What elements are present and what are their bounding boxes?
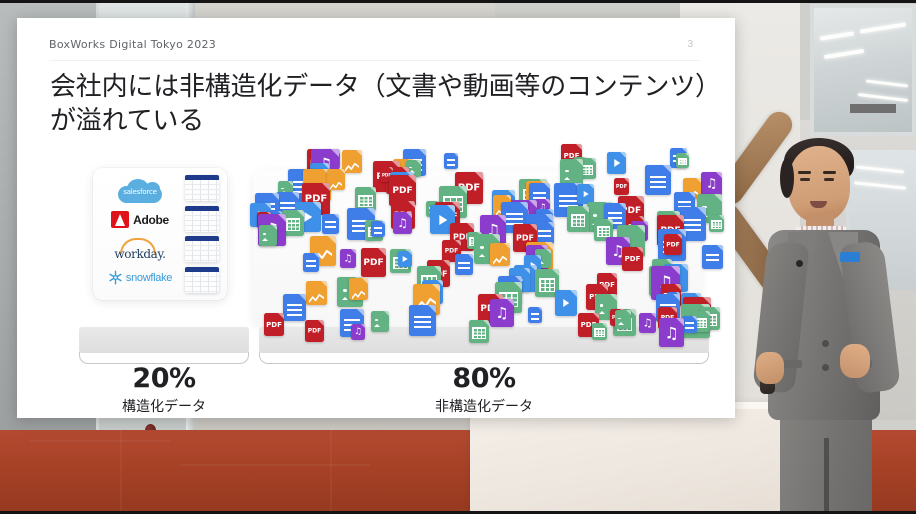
file-corner-fold xyxy=(624,178,629,183)
file-corner-fold xyxy=(432,284,440,292)
file-corner-fold xyxy=(428,305,436,313)
snowflake-icon xyxy=(108,270,123,285)
spreadsheet-grid xyxy=(597,226,610,237)
document-lines xyxy=(374,227,383,234)
file-corner-fold xyxy=(677,234,682,239)
image-file-icon xyxy=(259,225,277,246)
logo-snowflake: snowflake xyxy=(101,265,179,291)
file-corner-fold xyxy=(536,255,541,260)
file-corner-fold xyxy=(548,222,554,228)
document-file-icon xyxy=(702,245,723,269)
file-corner-fold xyxy=(504,243,510,249)
file-corner-fold xyxy=(607,219,613,225)
page-title: 会社内には非構造化データ（文書や動画等のコンテンツ） が溢れている xyxy=(50,70,720,139)
stat-unstructured-value: 80% xyxy=(259,363,709,394)
file-corner-fold xyxy=(530,224,537,231)
play-triangle-icon xyxy=(563,299,569,307)
document-lines xyxy=(650,176,667,189)
pdf-text-label: PDF xyxy=(614,184,629,190)
file-corner-fold xyxy=(673,294,680,301)
music-note-icon: ♫ xyxy=(706,177,718,192)
file-corner-fold xyxy=(714,194,722,202)
file-corner-fold xyxy=(292,192,299,199)
pdf-text-label: PDF xyxy=(664,241,682,248)
file-corner-fold xyxy=(663,165,671,173)
file-corner-fold xyxy=(265,203,271,209)
chart-line-icon xyxy=(345,160,359,169)
file-corner-fold xyxy=(524,268,530,274)
file-corner-fold xyxy=(611,273,617,279)
music-note-icon: ♫ xyxy=(643,317,653,330)
structured-band xyxy=(79,327,249,353)
file-corner-fold xyxy=(475,172,483,180)
pdf-file-icon: PDF xyxy=(614,178,629,195)
file-corner-fold xyxy=(357,309,364,316)
file-corner-fold xyxy=(601,284,608,291)
file-corner-fold xyxy=(582,206,589,213)
file-corner-fold xyxy=(381,221,385,225)
pdf-text-label: PDF xyxy=(622,255,643,263)
file-corner-fold xyxy=(340,169,345,174)
stat-structured-value: 20% xyxy=(79,363,249,394)
file-corner-fold xyxy=(719,215,724,220)
file-corner-fold xyxy=(591,158,596,163)
spreadsheet-grid xyxy=(286,218,301,231)
file-corner-fold xyxy=(544,183,550,189)
spreadsheet-grid xyxy=(678,158,687,166)
file-corner-fold xyxy=(593,313,599,319)
picture-mountain-icon xyxy=(618,318,628,325)
spreadsheet-grid xyxy=(594,328,604,337)
adobe-a-icon xyxy=(111,211,129,228)
document-lines xyxy=(447,159,456,166)
table-icon xyxy=(185,206,219,232)
presenter-figure xyxy=(744,138,916,514)
pdf-file-icon: PDF xyxy=(361,248,386,277)
file-corner-fold xyxy=(610,294,617,301)
chart-line-icon xyxy=(330,178,343,186)
video-file-icon xyxy=(555,290,577,316)
picture-mountain-icon xyxy=(564,170,579,180)
file-corner-fold xyxy=(570,290,577,297)
file-corner-fold xyxy=(362,278,368,284)
chart-line-icon xyxy=(493,253,507,262)
image-file-icon xyxy=(615,310,631,329)
pdf-text-label: PDF xyxy=(389,186,416,196)
salesforce-cloud-icon: salesforce xyxy=(118,179,162,203)
audio-file-icon: ♫ xyxy=(639,313,656,333)
document-file-icon xyxy=(682,316,697,333)
image-file-icon xyxy=(560,159,583,186)
pdf-file-icon: PDF xyxy=(664,234,682,255)
presenter-hair-side xyxy=(780,158,794,198)
chart-file-icon xyxy=(490,243,510,266)
document-file-icon xyxy=(322,214,339,234)
page-title-line-2: が溢れている xyxy=(50,104,720,138)
presenter-brow-right xyxy=(823,171,836,174)
file-corner-fold xyxy=(620,152,626,158)
play-triangle-icon xyxy=(304,212,312,222)
file-corner-fold xyxy=(389,167,393,171)
file-corner-fold xyxy=(384,311,389,316)
chart-file-icon xyxy=(342,150,362,173)
file-corner-fold xyxy=(278,313,284,319)
chart-line-icon xyxy=(352,287,365,296)
video-file-icon xyxy=(398,251,412,267)
presenter-hand-left xyxy=(756,352,784,384)
play-triangle-icon xyxy=(583,191,588,197)
logo-adobe: Adobe xyxy=(101,207,179,233)
presenter-eye-left xyxy=(800,178,810,181)
presenter-hand-right xyxy=(840,344,870,378)
presenter-head xyxy=(788,146,850,222)
file-corner-fold xyxy=(272,193,279,200)
picture-mountain-icon xyxy=(374,319,386,327)
file-corner-fold xyxy=(378,248,386,256)
spreadsheet-grid xyxy=(539,278,555,292)
file-corner-fold xyxy=(455,240,461,246)
slide-header: BoxWorks Digital Tokyo 2023 3 xyxy=(49,38,711,60)
table-icon xyxy=(185,175,219,201)
spreadsheet-grid xyxy=(358,195,372,207)
chart-file-icon xyxy=(306,281,327,305)
file-corner-fold xyxy=(705,311,710,316)
play-triangle-icon xyxy=(439,215,447,225)
music-note-icon: ♫ xyxy=(495,304,508,322)
file-corner-fold xyxy=(318,320,324,326)
file-corner-fold xyxy=(468,254,473,259)
file-corner-fold xyxy=(313,202,321,210)
file-corner-fold xyxy=(297,210,304,217)
snowflake-label: snowflake xyxy=(126,272,172,284)
music-note-icon: ♫ xyxy=(397,216,408,230)
document-file-icon xyxy=(528,307,542,323)
audio-file-icon: ♫ xyxy=(340,249,356,268)
presenter-jacket-button-top xyxy=(822,340,829,347)
document-file-icon xyxy=(409,305,436,336)
video-file-icon xyxy=(607,152,626,174)
stat-structured-label: 構造化データ xyxy=(79,396,249,416)
file-corner-fold xyxy=(506,195,511,200)
play-triangle-icon xyxy=(614,159,620,167)
slide-page-number: 3 xyxy=(687,39,693,50)
audio-file-icon: ♫ xyxy=(701,172,722,196)
file-corner-fold xyxy=(492,234,500,242)
music-note-icon: ♫ xyxy=(344,253,353,264)
spreadsheet-grid xyxy=(571,214,586,227)
document-lines xyxy=(325,221,336,230)
file-corner-fold xyxy=(576,144,582,150)
file-corner-fold xyxy=(676,215,684,223)
file-corner-fold xyxy=(602,323,607,328)
file-corner-fold xyxy=(314,253,319,258)
file-corner-fold xyxy=(545,214,553,222)
file-corner-fold xyxy=(408,201,415,208)
file-corner-fold xyxy=(689,192,695,198)
spreadsheet-grid xyxy=(711,220,721,229)
pdf-text-label: PDF xyxy=(305,328,324,335)
presenter-eye-right xyxy=(824,178,834,181)
presenter-jacket-button-bottom xyxy=(822,364,829,371)
document-lines xyxy=(306,260,316,268)
file-corner-fold xyxy=(538,307,542,311)
file-corner-fold xyxy=(552,269,559,276)
audio-file-icon: ♫ xyxy=(659,318,684,347)
document-lines xyxy=(531,313,540,320)
file-corner-fold xyxy=(619,203,626,210)
file-corner-fold xyxy=(322,183,330,191)
file-corner-fold xyxy=(367,208,375,216)
document-lines xyxy=(414,316,431,330)
document-file-icon xyxy=(535,222,554,244)
structured-data-card: salesforce Adobe workday. xyxy=(93,168,227,300)
pdf-file-icon: PDF xyxy=(305,320,324,342)
file-corner-fold xyxy=(272,225,277,230)
presenter-name-badge xyxy=(840,252,860,262)
pdf-text-label: PDF xyxy=(361,258,386,268)
pdf-text-label: PDF xyxy=(264,321,284,329)
file-corner-fold xyxy=(408,251,412,255)
file-corner-fold xyxy=(419,149,426,156)
file-corner-fold xyxy=(520,202,528,210)
music-note-icon: ♫ xyxy=(354,327,362,337)
stat-unstructured-label: 非構造化データ xyxy=(259,396,709,416)
logo-salesforce: salesforce xyxy=(101,178,179,204)
table-icon-column xyxy=(185,175,219,293)
file-corner-fold xyxy=(714,307,720,313)
document-file-icon xyxy=(645,165,671,195)
file-corner-fold xyxy=(685,153,689,157)
image-file-icon xyxy=(371,311,389,332)
document-file-icon xyxy=(444,153,458,169)
file-corner-fold xyxy=(681,264,688,271)
file-corner-fold xyxy=(697,207,706,216)
interior-window xyxy=(810,4,916,136)
audio-file-icon: ♫ xyxy=(490,299,514,327)
presenter-leg-split xyxy=(824,438,829,514)
table-icon xyxy=(185,236,219,262)
file-corner-fold xyxy=(696,178,701,183)
document-file-icon xyxy=(455,254,473,275)
spreadsheet-grid xyxy=(472,327,486,339)
music-note-icon: ♫ xyxy=(664,323,678,342)
file-corner-fold xyxy=(454,153,458,157)
file-corner-fold xyxy=(514,282,522,290)
file-corner-fold xyxy=(576,159,583,166)
file-corner-fold xyxy=(467,223,474,230)
pdf-file-icon: PDF xyxy=(264,313,284,336)
file-corner-fold xyxy=(416,160,421,165)
page-title-line-1: 会社内には非構造化データ（文書や動画等のコンテンツ） xyxy=(50,70,720,104)
file-corner-fold xyxy=(443,260,450,267)
video-file-icon xyxy=(577,184,594,204)
pdf-file-icon: PDF xyxy=(622,247,643,271)
file-corner-fold xyxy=(717,245,723,251)
file-corner-fold xyxy=(447,205,455,213)
slide-eyebrow-label: BoxWorks Digital Tokyo 2023 xyxy=(49,38,711,51)
document-file-icon xyxy=(303,253,319,272)
workday-label: workday. xyxy=(107,247,173,261)
spreadsheet-file-icon xyxy=(567,206,589,232)
unstructured-file-cluster: PDF♫PDF♫PDFPDFPDFPDFPDF♫PDFPDFPDFPDFPDF♫… xyxy=(245,144,725,344)
file-corner-fold xyxy=(299,294,306,301)
document-lines xyxy=(685,322,695,330)
file-corner-fold xyxy=(459,186,467,194)
stat-unstructured: 80% 非構造化データ xyxy=(259,363,709,416)
file-corner-fold xyxy=(483,320,489,326)
file-corner-fold xyxy=(637,247,643,253)
file-corner-fold xyxy=(675,284,681,290)
file-corner-fold xyxy=(692,316,697,321)
document-file-icon xyxy=(283,294,306,321)
file-corner-fold xyxy=(288,181,293,186)
header-divider xyxy=(49,60,699,61)
audio-file-icon: ♫ xyxy=(351,324,365,340)
spreadsheet-file-icon xyxy=(469,320,489,343)
spreadsheet-file-icon xyxy=(592,323,607,340)
document-file-icon xyxy=(371,221,385,237)
file-corner-fold xyxy=(434,266,441,273)
audio-file-icon: ♫ xyxy=(393,212,412,234)
presentation-slide: BoxWorks Digital Tokyo 2023 3 会社内には非構造化デ… xyxy=(17,18,735,418)
logo-column: salesforce Adobe workday. xyxy=(101,176,179,292)
document-lines xyxy=(538,230,550,240)
document-lines xyxy=(706,254,719,265)
file-corner-fold xyxy=(671,307,677,313)
adobe-label: Adobe xyxy=(133,213,169,227)
stat-structured: 20% 構造化データ xyxy=(79,363,249,416)
picture-mountain-icon xyxy=(262,233,274,241)
file-corner-fold xyxy=(356,150,362,156)
salesforce-label: salesforce xyxy=(118,188,162,196)
lapel-microphone-icon xyxy=(796,260,803,267)
table-icon xyxy=(185,267,219,293)
file-corner-fold xyxy=(637,225,645,233)
file-corner-fold xyxy=(546,249,551,254)
document-lines xyxy=(458,262,470,271)
file-corner-fold xyxy=(321,281,327,287)
logo-workday: workday. xyxy=(101,236,179,262)
video-frame: BoxWorks Digital Tokyo 2023 3 会社内には非構造化デ… xyxy=(0,0,916,514)
file-corner-fold xyxy=(334,214,339,219)
document-lines xyxy=(287,304,302,316)
file-corner-fold xyxy=(408,175,416,183)
file-corner-fold xyxy=(328,236,336,244)
frame-letterbox-top xyxy=(0,0,916,3)
spreadsheet-file-icon xyxy=(676,153,689,168)
chart-file-icon xyxy=(349,278,368,300)
chart-line-icon xyxy=(309,291,324,301)
file-corner-fold xyxy=(626,310,631,315)
spreadsheet-file-icon xyxy=(709,215,724,232)
file-corner-fold xyxy=(589,184,594,189)
play-triangle-icon xyxy=(403,256,408,262)
file-corner-fold xyxy=(370,187,376,193)
file-corner-fold xyxy=(636,196,644,204)
presenter-brow-left xyxy=(798,171,811,174)
